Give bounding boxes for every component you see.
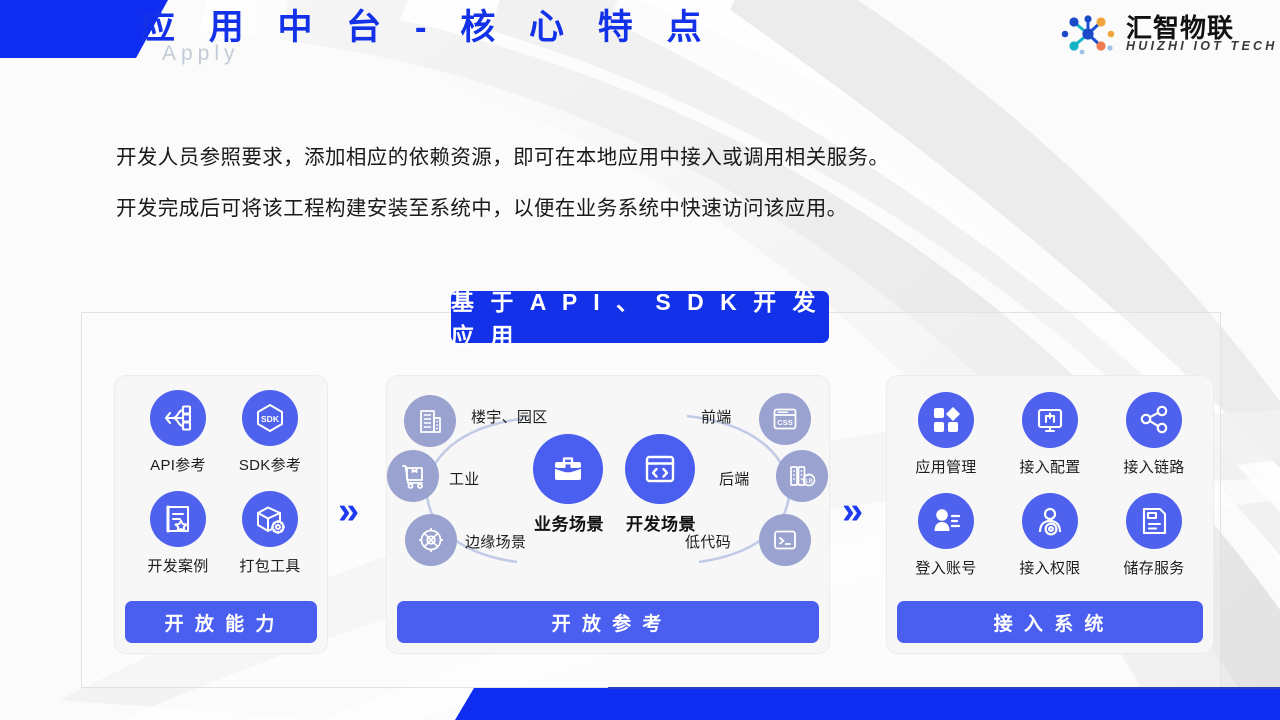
user-id-icon [918, 493, 974, 549]
file-storage-icon [1126, 493, 1182, 549]
hub-label-development: 开发场景 [626, 510, 696, 535]
tile-access-permission[interactable]: 接入权限 [1009, 493, 1091, 578]
diagram-label-industry: 工业 [449, 468, 480, 489]
panel-button-access-system[interactable]: 接 入 系 统 [897, 601, 1203, 643]
grid-blocks-icon [918, 392, 974, 448]
scenario-diagram: CSS LB [387, 376, 829, 601]
diagram-label-backend: 后端 [719, 468, 750, 489]
document-star-icon [150, 491, 206, 547]
tile-label: API参考 [136, 454, 220, 475]
tile-app-management[interactable]: 应用管理 [905, 392, 987, 477]
tile-storage-service[interactable]: 储存服务 [1113, 493, 1195, 578]
node-building[interactable] [404, 395, 456, 447]
body-paragraph-2: 开发完成后可将该工程构建安装至系统中，以便在业务系统中快速访问该应用。 [116, 191, 848, 221]
node-industry[interactable] [387, 450, 439, 502]
tile-label: 储存服务 [1113, 557, 1195, 578]
tile-label: 登入账号 [905, 557, 987, 578]
package-gear-icon [242, 491, 298, 547]
panel-button-open-reference[interactable]: 开 放 参 考 [397, 601, 819, 643]
tile-login-account[interactable]: 登入账号 [905, 493, 987, 578]
ribbon-title: 基 于 A P I 、 S D K 开 发 应 用 [451, 291, 829, 343]
hub-label-business: 业务场景 [534, 510, 604, 535]
svg-text:CSS: CSS [777, 418, 793, 427]
chevron-right-icon-2: » [842, 492, 863, 530]
footer-accent-line [608, 687, 1280, 689]
page-header: 应 用 中 台 - 核 心 特 点 Apply [0, 0, 1280, 72]
tile-label: 开发案例 [136, 555, 220, 576]
diagram-label-edge: 边缘场景 [465, 531, 526, 552]
user-gear-icon [1022, 493, 1078, 549]
tile-label: 应用管理 [905, 456, 987, 477]
tile-label: 接入权限 [1009, 557, 1091, 578]
panel-open-capability: API参考 SDK SDK参考 开发案例 [114, 375, 328, 654]
diagram-label-frontend: 前端 [701, 406, 732, 427]
monitor-config-icon [1022, 392, 1078, 448]
tile-access-link[interactable]: 接入链路 [1113, 392, 1195, 477]
panel-button-open-capability[interactable]: 开 放 能 力 [125, 601, 317, 643]
hub-development-scenario[interactable] [625, 434, 695, 504]
node-frontend[interactable]: CSS [759, 393, 811, 445]
tile-api-reference[interactable]: API参考 [136, 390, 220, 475]
tile-label: SDK参考 [228, 454, 312, 475]
node-edge-scene[interactable] [405, 514, 457, 566]
tile-label: 接入配置 [1009, 456, 1091, 477]
share-nodes-icon [1126, 392, 1182, 448]
api-branch-icon [150, 390, 206, 446]
tile-dev-case[interactable]: 开发案例 [136, 491, 220, 576]
body-paragraph-1: 开发人员参照要求，添加相应的依赖资源，即可在本地应用中接入或调用相关服务。 [116, 140, 889, 170]
svg-text:SDK: SDK [261, 414, 280, 424]
panel-open-reference: CSS LB [386, 375, 830, 654]
node-backend[interactable]: LB [776, 450, 828, 502]
page-subtitle: Apply [162, 42, 240, 66]
hub-business-scenario[interactable] [533, 434, 603, 504]
brand-logo: 汇智物联 HUIZHI IOT TECH [1060, 8, 1260, 64]
tile-label: 接入链路 [1113, 456, 1195, 477]
node-lowcode[interactable] [759, 514, 811, 566]
tile-access-config[interactable]: 接入配置 [1009, 392, 1091, 477]
panel-access-system: 应用管理 接入配置 接入链路 [886, 375, 1214, 654]
molecule-network-logo-icon [1060, 12, 1118, 56]
chevron-right-icon-1: » [338, 492, 359, 530]
page-title-group: 应 用 中 台 - 核 心 特 点 Apply [140, 2, 713, 54]
tile-packaging-tool[interactable]: 打包工具 [228, 491, 312, 576]
sdk-cube-icon: SDK [242, 390, 298, 446]
tile-sdk-reference[interactable]: SDK SDK参考 [228, 390, 312, 475]
tile-label: 打包工具 [228, 555, 312, 576]
logo-name-en: HUIZHI IOT TECH [1126, 39, 1277, 53]
diagram-label-building: 楼宇、园区 [471, 406, 548, 427]
svg-text:LB: LB [806, 478, 813, 484]
